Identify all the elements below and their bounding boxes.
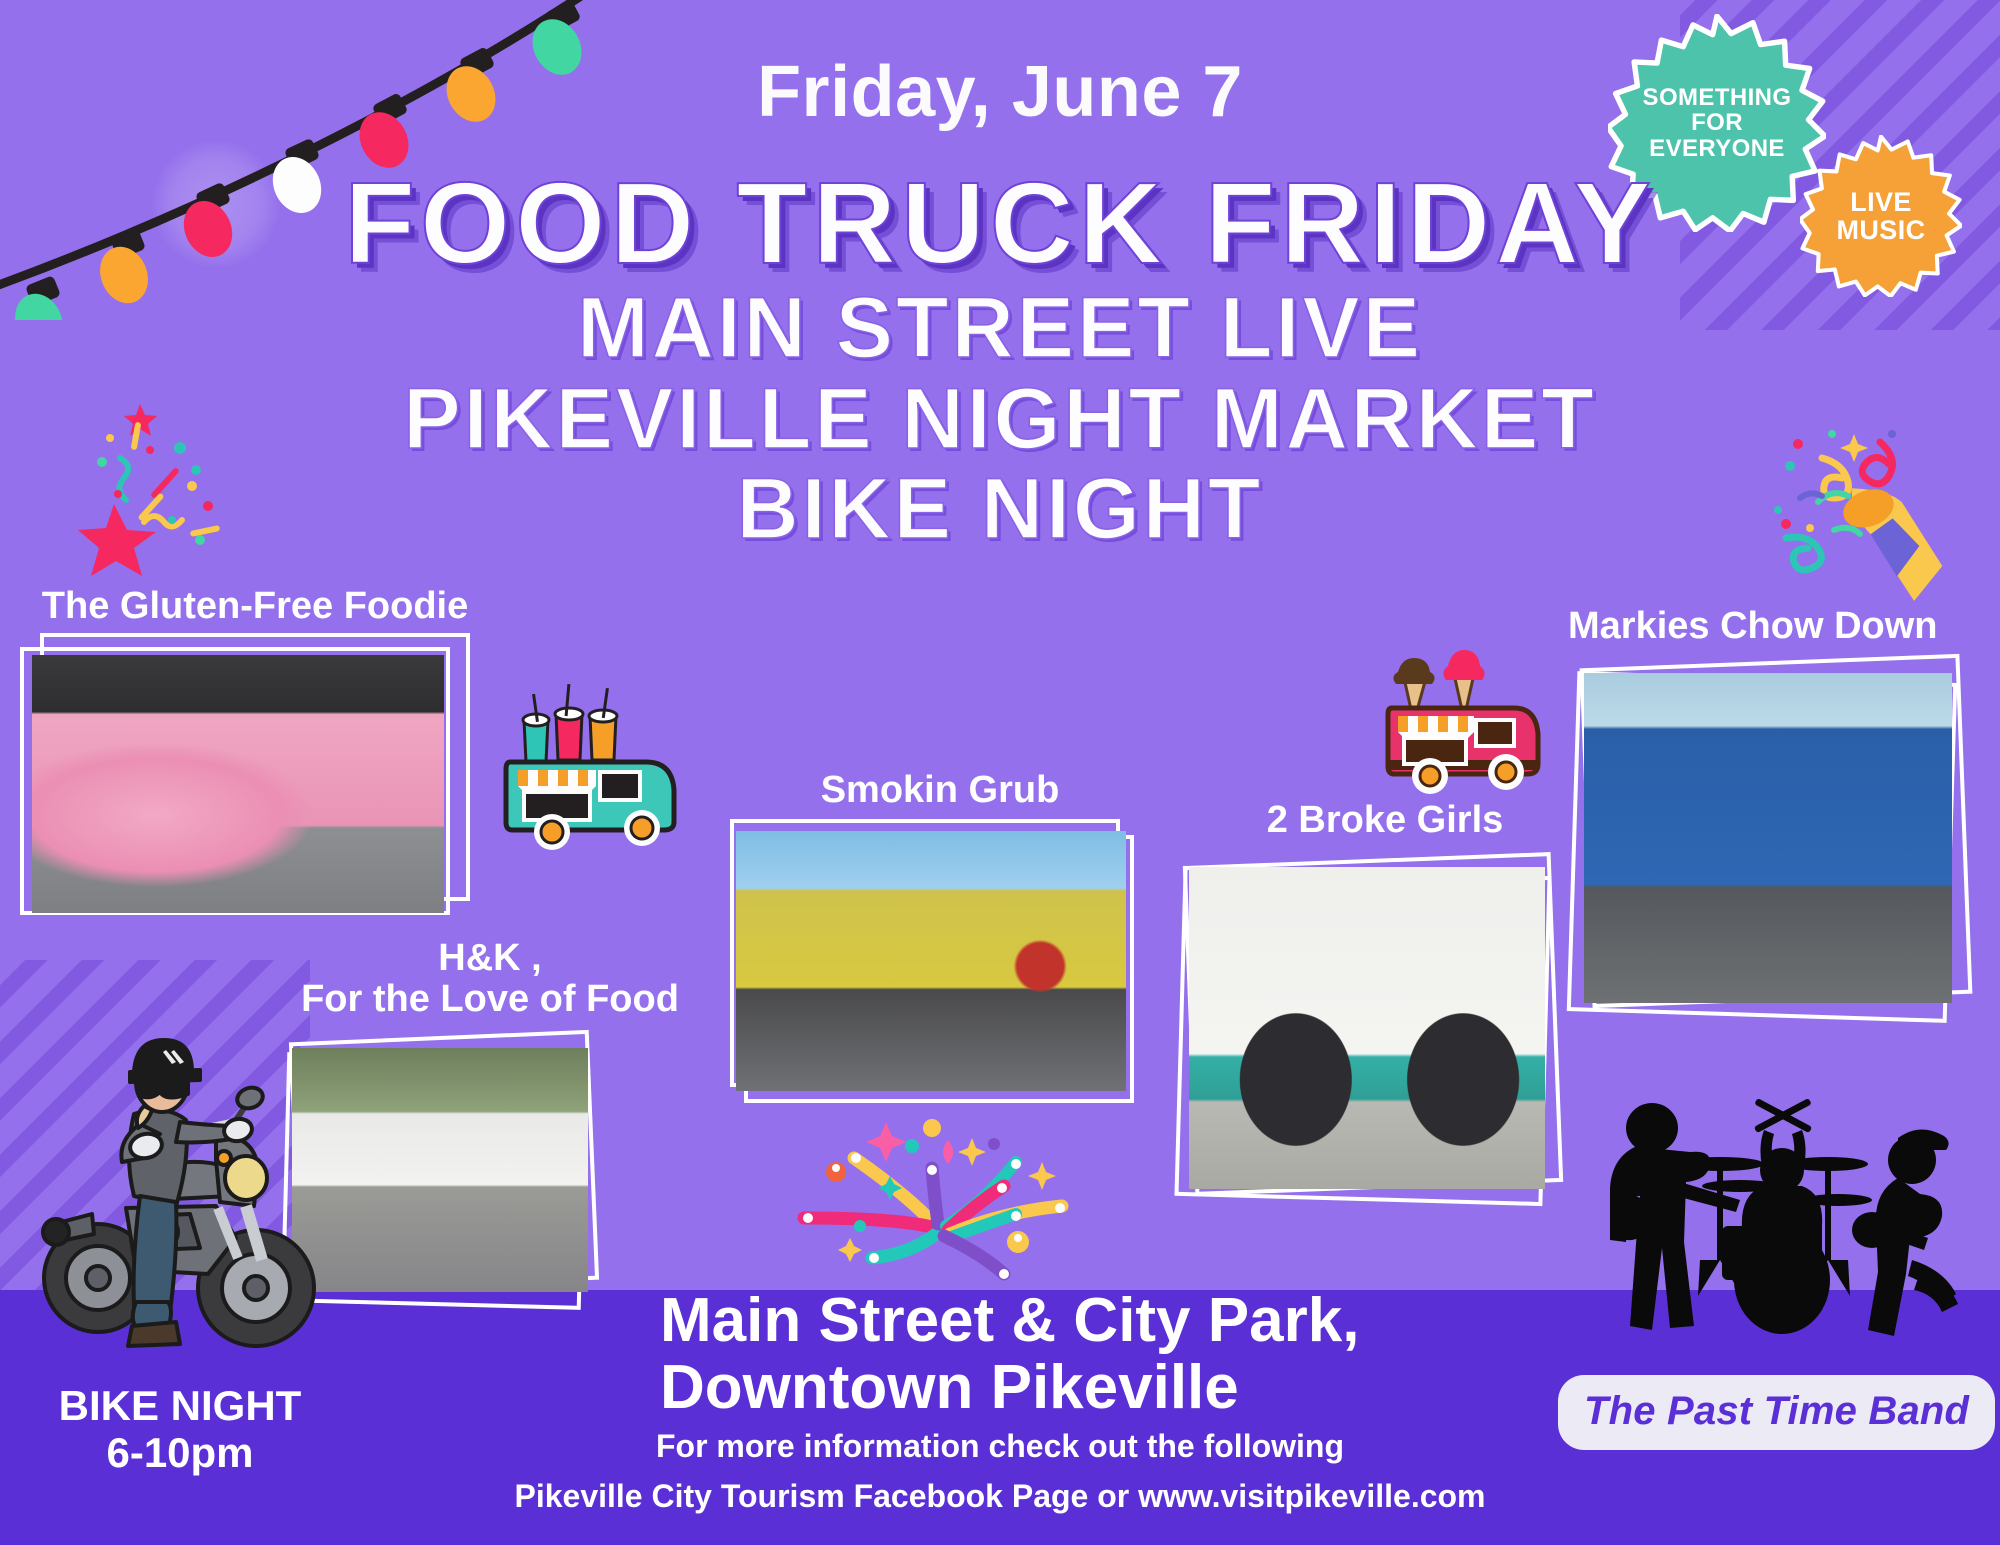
- vendor-card-hk-for-the-love-of-food: H&K , For the Love of Food: [280, 938, 700, 1320]
- vendor-photo-frame: [1568, 657, 2000, 1037]
- venue-line-2: Downtown Pikeville: [660, 1355, 1560, 1422]
- badge-label: LIVE MUSIC: [1820, 188, 1942, 245]
- diagonal-stripes-bottom-left: [0, 960, 310, 1320]
- title-subline-main-street-live: MAIN STREET LIVE: [0, 286, 2000, 370]
- vendor-card-two-broke-girls: 2 Broke Girls: [1175, 800, 1595, 1205]
- vendor-card-markies-chow-down: Markies Chow Down: [1568, 606, 2000, 1037]
- event-poster: SOMETHING FOR EVERYONE LIVE MUSIC Friday…: [0, 0, 2000, 1545]
- vendor-photo: [1584, 673, 1952, 1003]
- vendor-photo: [736, 831, 1126, 1091]
- vendor-label: Markies Chow Down: [1568, 606, 2000, 647]
- vendor-photo-frame: [730, 819, 1150, 1129]
- title-subline-bike-night: BIKE NIGHT: [0, 467, 2000, 551]
- page-title: FOOD TRUCK FRIDAY: [0, 167, 2000, 281]
- vendor-photo: [292, 1048, 588, 1292]
- vendor-photo: [32, 655, 444, 913]
- info-line-1: For more information check out the follo…: [0, 1428, 2000, 1465]
- vendor-photo-frame: [280, 1030, 700, 1320]
- venue-line-1: Main Street & City Park,: [660, 1288, 1560, 1355]
- vendor-label: The Gluten-Free Foodie: [20, 586, 490, 627]
- vendor-label: Smokin Grub: [730, 770, 1150, 811]
- vendor-label: 2 Broke Girls: [1175, 800, 1595, 841]
- ice-cream-truck-icon: [1368, 618, 1568, 804]
- vendor-card-smokin-grub: Smokin Grub: [730, 770, 1150, 1129]
- drinks-food-truck-icon: [496, 666, 686, 856]
- vendor-photo-frame: [1175, 855, 1595, 1205]
- vendor-photo-frame: [20, 633, 490, 933]
- title-subline-night-market: PIKEVILLE NIGHT MARKET: [0, 377, 2000, 461]
- info-line-2: Pikeville City Tourism Facebook Page or …: [0, 1478, 2000, 1515]
- vendor-label: H&K , For the Love of Food: [280, 938, 700, 1020]
- badge-label: SOMETHING FOR EVERYONE: [1634, 85, 1800, 161]
- venue-address: Main Street & City Park, Downtown Pikevi…: [660, 1288, 1560, 1422]
- vendor-card-gluten-free-foodie: The Gluten-Free Foodie: [20, 586, 490, 933]
- vendor-photo: [1189, 867, 1545, 1189]
